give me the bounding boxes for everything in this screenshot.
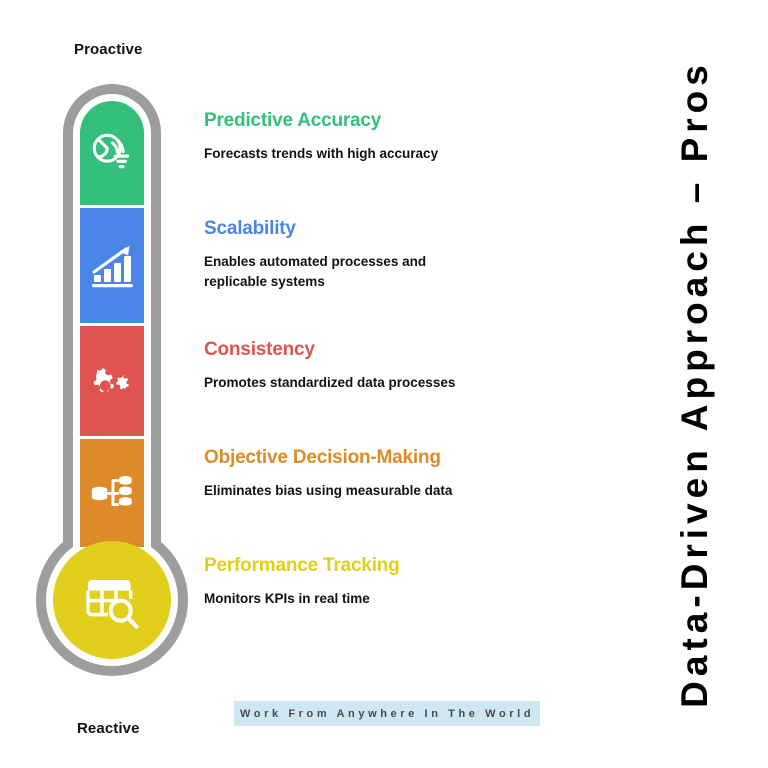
row-description: Enables automated processes and replicab… <box>204 252 476 291</box>
table-search-icon <box>80 568 144 632</box>
row-title: Consistency <box>204 339 534 361</box>
list-item[interactable]: Scalability Enables automated processes … <box>204 218 534 291</box>
predictive-analytics-icon <box>89 130 135 176</box>
footer-ribbon: Work From Anywhere In The World <box>234 701 540 726</box>
thermometer-fill-column <box>80 101 144 591</box>
row-description: Forecasts trends with high accuracy <box>204 144 494 164</box>
row-title: Performance Tracking <box>204 555 534 577</box>
row-title: Predictive Accuracy <box>204 110 534 132</box>
thermometer-bulb-fill[interactable] <box>53 541 171 659</box>
list-item[interactable]: Consistency Promotes standardized data p… <box>204 339 534 393</box>
page-title: Data-Driven Approach – Pros <box>640 0 750 768</box>
list-item[interactable]: Predictive Accuracy Forecasts trends wit… <box>204 110 534 164</box>
page-title-text: Data-Driven Approach – Pros <box>674 60 716 708</box>
scale-label-reactive: Reactive <box>77 720 140 737</box>
footer-text: Work From Anywhere In The World <box>240 708 534 720</box>
list-item[interactable]: Objective Decision-Making Eliminates bia… <box>204 447 534 501</box>
row-description: Promotes standardized data processes <box>204 373 494 393</box>
thermometer-band-consistency[interactable] <box>80 326 144 436</box>
list-item[interactable]: Performance Tracking Monitors KPIs in re… <box>204 555 534 609</box>
thermometer-band-objective-decision-making[interactable] <box>80 439 144 547</box>
row-title: Scalability <box>204 218 534 240</box>
gears-icon <box>89 358 135 404</box>
row-description: Eliminates bias using measurable data <box>204 481 494 501</box>
scale-label-proactive: Proactive <box>74 41 142 58</box>
thermometer-band-predictive-accuracy[interactable] <box>80 101 144 205</box>
thermometer-band-scalability[interactable] <box>80 208 144 323</box>
bar-chart-growth-icon <box>88 242 136 290</box>
row-description: Monitors KPIs in real time <box>204 589 494 609</box>
data-pipeline-icon <box>89 470 135 516</box>
thermometer-graphic <box>36 84 188 692</box>
row-title: Objective Decision-Making <box>204 447 534 469</box>
